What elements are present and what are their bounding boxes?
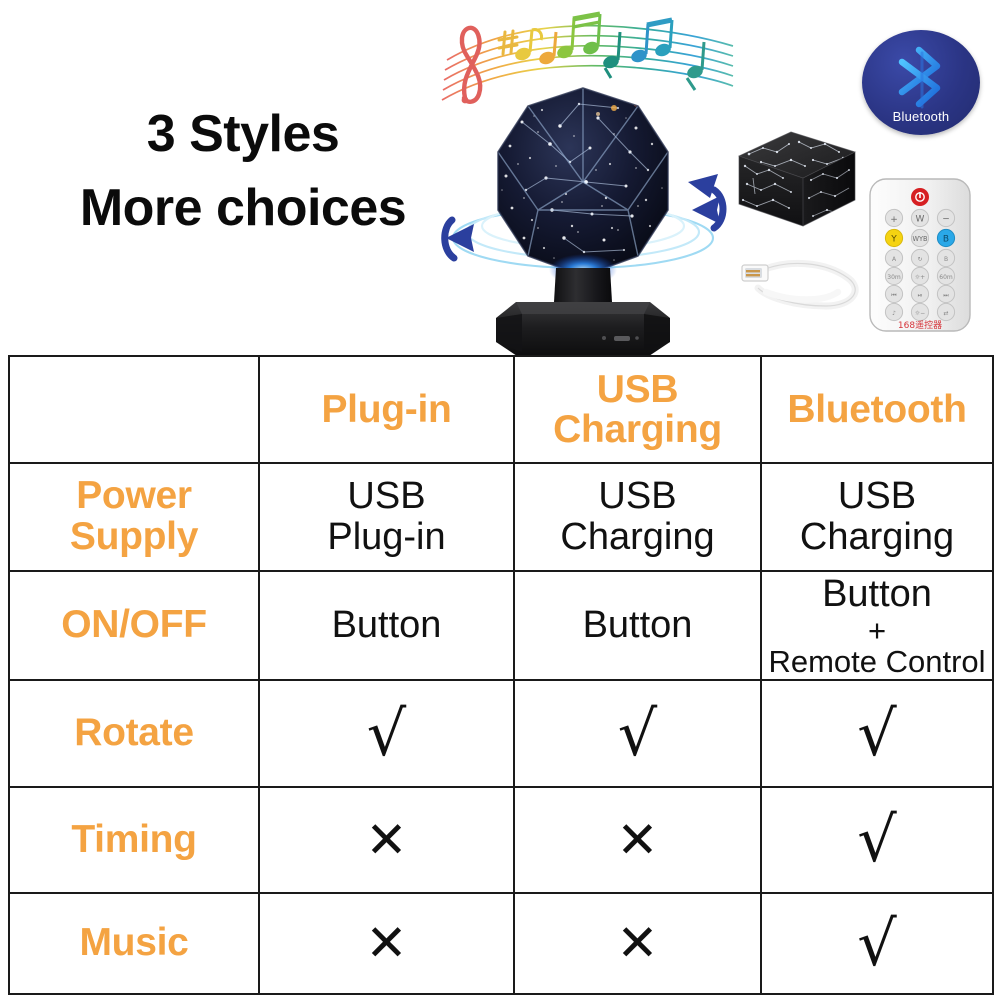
svg-text:30m: 30m [887,274,901,281]
table-row-rotate: Rotate √ √ √ [9,680,993,787]
row-label-power-supply: Power Supply [9,463,259,571]
cell-music-bluetooth: √ [761,893,993,994]
row-label-timing: Timing [9,787,259,893]
page-title: 3 Styles More choices [48,98,438,246]
table-corner-cell [9,356,259,463]
svg-text:⏯: ⏯ [918,292,923,299]
cell-on-off-plug-in: Button [259,571,514,680]
svg-text:−: − [942,215,950,225]
cell-power-supply-plug-in: USB Plug-in [259,463,514,571]
row-label-music: Music [9,893,259,994]
cell-rotate-usb-charging: √ [514,680,761,787]
row-label-rotate: Rotate [9,680,259,787]
table-row-music: Music ✕ ✕ √ [9,893,993,994]
svg-text:⏮: ⏮ [891,292,897,299]
headline-line-1: 3 Styles [48,98,438,172]
constellation-gift-box [733,122,861,238]
bluetooth-badge: Bluetooth [862,30,980,135]
svg-text:⇄: ⇄ [943,310,948,317]
svg-text:B: B [944,256,948,263]
cell-music-plug-in: ✕ [259,893,514,994]
svg-text:B: B [943,235,949,245]
column-header-usb-charging: USB Charging [514,356,761,463]
remote-control: +W− Y WYB B A↻B 30m☼+60m ⏮⏯⏭ ♪☼−⇄ 168遥控器 [866,176,976,334]
cell-power-supply-bluetooth: USB Charging [761,463,993,571]
svg-text:♪: ♪ [892,310,896,317]
cell-power-supply-usb-charging: USB Charging [514,463,761,571]
table-header-row: Plug-in USB Charging Bluetooth [9,356,993,463]
svg-text:WYB: WYB [912,235,928,243]
hero-banner: 3 Styles More choices [0,0,1000,355]
cell-rotate-bluetooth: √ [761,680,993,787]
cell-timing-bluetooth: √ [761,787,993,893]
svg-text:60m: 60m [939,274,953,281]
svg-text:W: W [916,215,925,225]
comparison-table: Plug-in USB Charging Bluetooth Power Sup… [8,355,994,995]
svg-text:☼+: ☼+ [915,274,925,281]
column-header-plug-in: Plug-in [259,356,514,463]
headline-line-2: More choices [48,172,438,246]
remote-bottom-label: 168遥控器 [898,319,942,331]
table-row-on-off: ON/OFF Button Button Button + Remote Con… [9,571,993,680]
svg-text:+: + [890,215,898,225]
svg-text:↻: ↻ [917,256,922,263]
bluetooth-badge-label: Bluetooth [862,109,980,124]
table-row-power-supply: Power Supply USB Plug-in USB Charging US… [9,463,993,571]
row-label-on-off: ON/OFF [9,571,259,680]
svg-text:⏭: ⏭ [943,292,949,299]
svg-text:Y: Y [890,235,897,245]
usb-cable [740,238,872,320]
star-projector-lamp [438,70,728,360]
table-row-timing: Timing ✕ ✕ √ [9,787,993,893]
svg-text:☼−: ☼− [915,310,925,317]
cell-music-usb-charging: ✕ [514,893,761,994]
cell-timing-plug-in: ✕ [259,787,514,893]
cell-timing-usb-charging: ✕ [514,787,761,893]
cell-rotate-plug-in: √ [259,680,514,787]
cell-on-off-usb-charging: Button [514,571,761,680]
cell-on-off-bluetooth: Button + Remote Control [761,571,993,680]
column-header-bluetooth: Bluetooth [761,356,993,463]
